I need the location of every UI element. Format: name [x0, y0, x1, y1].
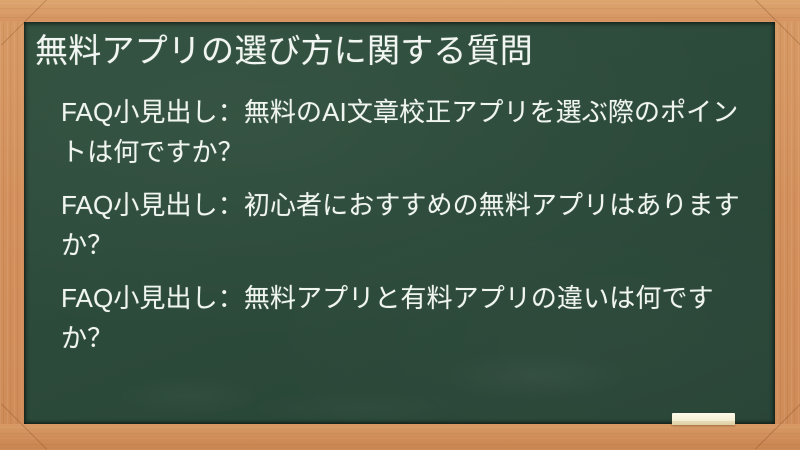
- frame-bottom-ledge: [0, 424, 800, 450]
- faq-list-item: FAQ小見出し：無料アプリと有料アプリの違いは何ですか？: [61, 278, 747, 358]
- faq-list-item: FAQ小見出し：初心者におすすめの無料アプリはありますか？: [61, 185, 747, 265]
- page-title: 無料アプリの選び方に関する質問: [30, 30, 761, 72]
- frame-top-rail: [0, 0, 800, 22]
- board-content: 無料アプリの選び方に関する質問 FAQ小見出し：無料のAI文章校正アプリを選ぶ際…: [24, 22, 775, 424]
- chalkboard-surface: 無料アプリの選び方に関する質問 FAQ小見出し：無料のAI文章校正アプリを選ぶ際…: [24, 22, 775, 424]
- faq-list: FAQ小見出し：無料のAI文章校正アプリを選ぶ際のポイントは何ですか？ FAQ小…: [30, 92, 761, 358]
- chalk-eraser[interactable]: [672, 413, 735, 425]
- faq-list-item: FAQ小見出し：無料のAI文章校正アプリを選ぶ際のポイントは何ですか？: [61, 92, 747, 172]
- chalk-eraser-felt: [672, 421, 735, 425]
- chalkboard-wooden-frame: 無料アプリの選び方に関する質問 FAQ小見出し：無料のAI文章校正アプリを選ぶ際…: [0, 0, 800, 450]
